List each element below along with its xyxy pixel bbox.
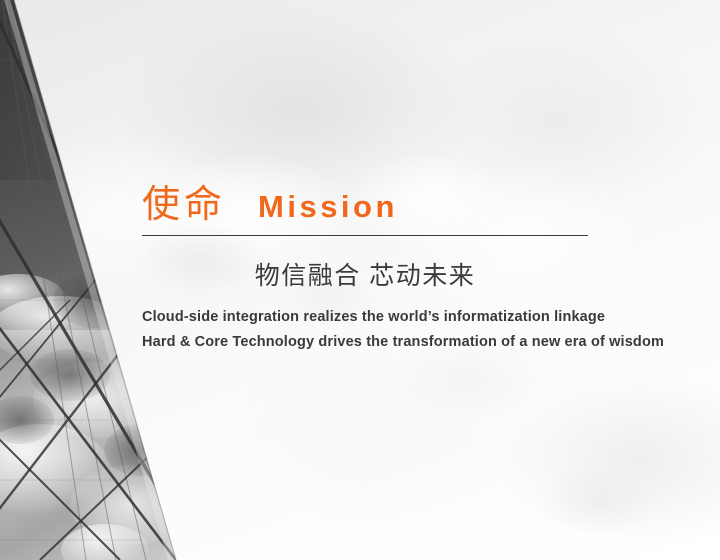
hero-text-block: 使命 Mission 物信融合 芯动未来 Cloud-side integrat…: [142, 168, 602, 355]
hero-slogan-cn: 物信融合 芯动未来: [142, 256, 588, 292]
hero-title-en: Mission: [258, 191, 398, 224]
title-divider-line: [142, 235, 588, 236]
hero-title-cn: 使命: [142, 186, 226, 224]
hero-banner: 使命 Mission 物信融合 芯动未来 Cloud-side integrat…: [0, 0, 720, 560]
hero-slogan-en-line-1: Cloud-side integration realizes the worl…: [142, 305, 588, 330]
hero-title: 使命 Mission: [142, 168, 602, 224]
hero-slogan-en-line-2: Hard & Core Technology drives the transf…: [142, 330, 588, 355]
hero-slogan-en: Cloud-side integration realizes the worl…: [142, 305, 588, 355]
